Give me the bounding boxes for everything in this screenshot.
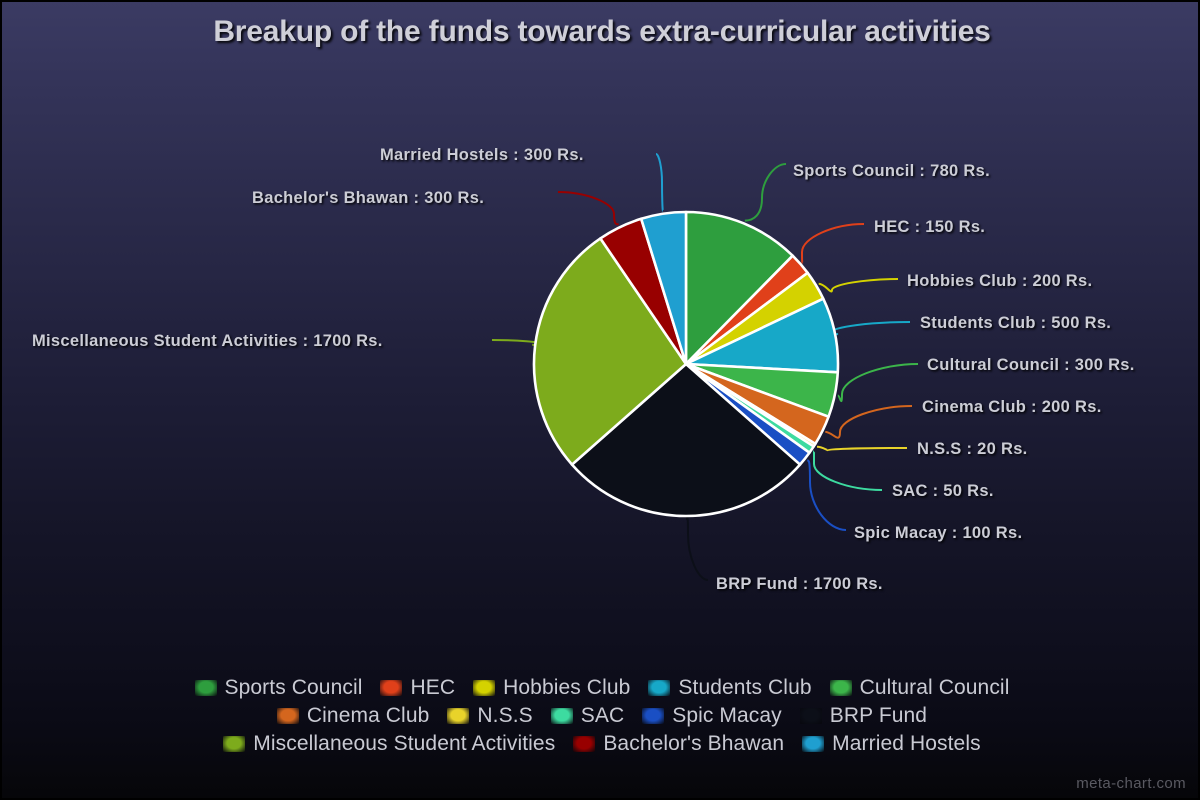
legend-item[interactable]: Married Hostels bbox=[802, 732, 981, 756]
legend-item[interactable]: Spic Macay bbox=[642, 704, 782, 728]
legend-item-label: Cinema Club bbox=[307, 704, 430, 728]
legend-color-swatch bbox=[195, 680, 217, 696]
legend-item-label: Students Club bbox=[678, 676, 811, 700]
leader-line bbox=[838, 364, 918, 401]
chart-legend: Sports CouncilHECHobbies ClubStudents Cl… bbox=[2, 674, 1200, 758]
legend-color-swatch bbox=[551, 708, 573, 724]
legend-item[interactable]: Miscellaneous Student Activities bbox=[223, 732, 555, 756]
legend-color-swatch bbox=[447, 708, 469, 724]
slice-callout-label: Cinema Club : 200 Rs. bbox=[922, 398, 1102, 417]
legend-item-label: Married Hostels bbox=[832, 732, 981, 756]
legend-color-swatch bbox=[642, 708, 664, 724]
legend-item-label: Miscellaneous Student Activities bbox=[253, 732, 555, 756]
slice-callout-label: Spic Macay : 100 Rs. bbox=[854, 524, 1022, 543]
slice-callout-label: BRP Fund : 1700 Rs. bbox=[716, 575, 883, 594]
leader-line bbox=[819, 279, 898, 291]
slice-callout-label: N.S.S : 20 Rs. bbox=[917, 440, 1028, 459]
legend-color-swatch bbox=[800, 708, 822, 724]
legend-item[interactable]: Sports Council bbox=[195, 676, 363, 700]
legend-row: Cinema ClubN.S.SSACSpic MacayBRP Fund bbox=[2, 702, 1200, 730]
legend-item-label: N.S.S bbox=[477, 704, 532, 728]
legend-item-label: SAC bbox=[581, 704, 624, 728]
slice-callout-label: HEC : 150 Rs. bbox=[874, 218, 985, 237]
legend-row: Sports CouncilHECHobbies ClubStudents Cl… bbox=[2, 674, 1200, 702]
slice-callout-label: Students Club : 500 Rs. bbox=[920, 314, 1111, 333]
legend-item-label: Sports Council bbox=[225, 676, 363, 700]
legend-item-label: Spic Macay bbox=[672, 704, 782, 728]
legend-item-label: BRP Fund bbox=[830, 704, 927, 728]
legend-row: Miscellaneous Student ActivitiesBachelor… bbox=[2, 730, 1200, 758]
legend-item-label: Bachelor's Bhawan bbox=[603, 732, 784, 756]
leader-line bbox=[807, 461, 846, 530]
legend-item-label: Hobbies Club bbox=[503, 676, 630, 700]
legend-color-swatch bbox=[380, 680, 402, 696]
legend-item[interactable]: Cultural Council bbox=[830, 676, 1010, 700]
legend-color-swatch bbox=[473, 680, 495, 696]
legend-item[interactable]: N.S.S bbox=[447, 704, 532, 728]
legend-color-swatch bbox=[223, 736, 245, 752]
watermark: meta-chart.com bbox=[1076, 775, 1186, 792]
pie-chart-figure: Breakup of the funds towards extra-curri… bbox=[0, 0, 1200, 800]
legend-item[interactable]: Hobbies Club bbox=[473, 676, 630, 700]
legend-item[interactable]: SAC bbox=[551, 704, 624, 728]
slice-callout-label: Married Hostels : 300 Rs. bbox=[380, 146, 584, 165]
leader-line bbox=[686, 518, 708, 580]
leader-line bbox=[656, 154, 663, 211]
slice-callout-label: Cultural Council : 300 Rs. bbox=[927, 356, 1135, 375]
legend-item[interactable]: Students Club bbox=[648, 676, 811, 700]
legend-item-label: Cultural Council bbox=[860, 676, 1010, 700]
leader-line bbox=[825, 406, 912, 438]
pie-slices-group bbox=[534, 212, 838, 516]
slice-callout-label: Hobbies Club : 200 Rs. bbox=[907, 272, 1092, 291]
slice-callout-label: Sports Council : 780 Rs. bbox=[793, 162, 990, 181]
legend-item[interactable]: Bachelor's Bhawan bbox=[573, 732, 784, 756]
legend-color-swatch bbox=[830, 680, 852, 696]
legend-item[interactable]: HEC bbox=[380, 676, 455, 700]
leader-line bbox=[802, 224, 864, 263]
leader-line bbox=[745, 164, 786, 221]
slice-callout-label: Bachelor's Bhawan : 300 Rs. bbox=[252, 189, 484, 208]
legend-color-swatch bbox=[277, 708, 299, 724]
leader-line bbox=[832, 322, 910, 335]
leader-line bbox=[814, 451, 882, 490]
legend-color-swatch bbox=[573, 736, 595, 752]
slice-callout-label: SAC : 50 Rs. bbox=[892, 482, 994, 501]
leader-line bbox=[817, 447, 907, 450]
legend-item[interactable]: Cinema Club bbox=[277, 704, 430, 728]
legend-item[interactable]: BRP Fund bbox=[800, 704, 927, 728]
slice-callout-label: Miscellaneous Student Activities : 1700 … bbox=[32, 332, 383, 351]
legend-item-label: HEC bbox=[410, 676, 455, 700]
leader-line bbox=[558, 192, 619, 224]
legend-color-swatch bbox=[648, 680, 670, 696]
legend-color-swatch bbox=[802, 736, 824, 752]
